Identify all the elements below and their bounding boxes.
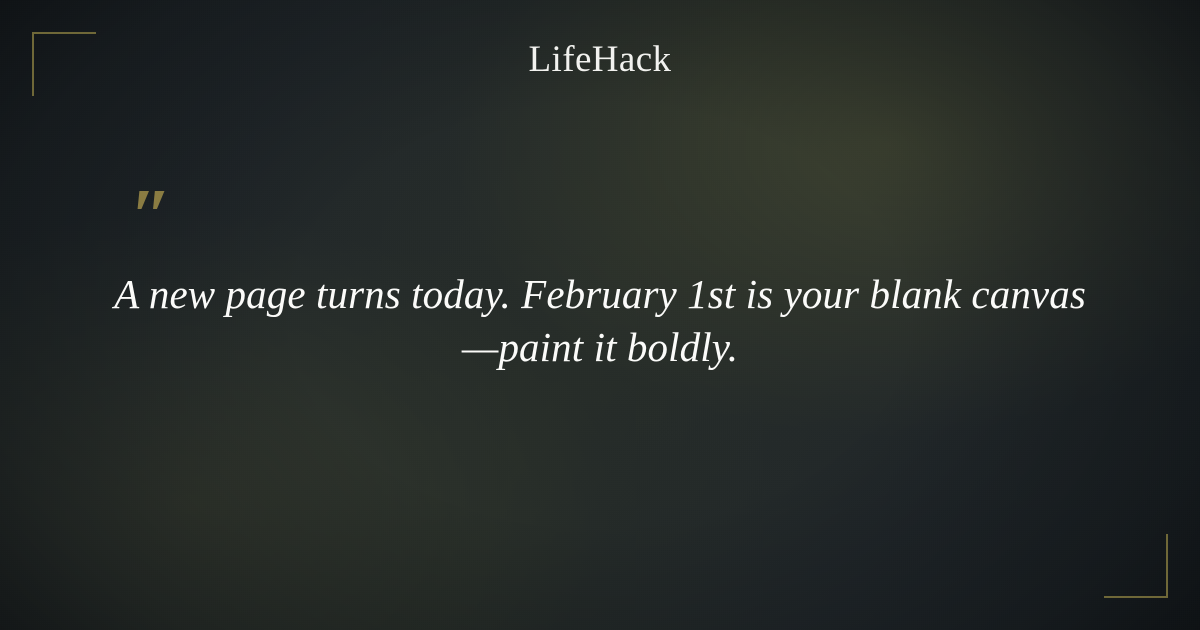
- quotation-mark-icon: ″: [130, 178, 170, 254]
- brand-logo: LifeHack: [0, 40, 1200, 81]
- quote-block: A new page turns today. February 1st is …: [108, 268, 1092, 375]
- quote-card: LifeHack ″ A new page turns today. Febru…: [0, 0, 1200, 630]
- quote-text: A new page turns today. February 1st is …: [108, 268, 1092, 375]
